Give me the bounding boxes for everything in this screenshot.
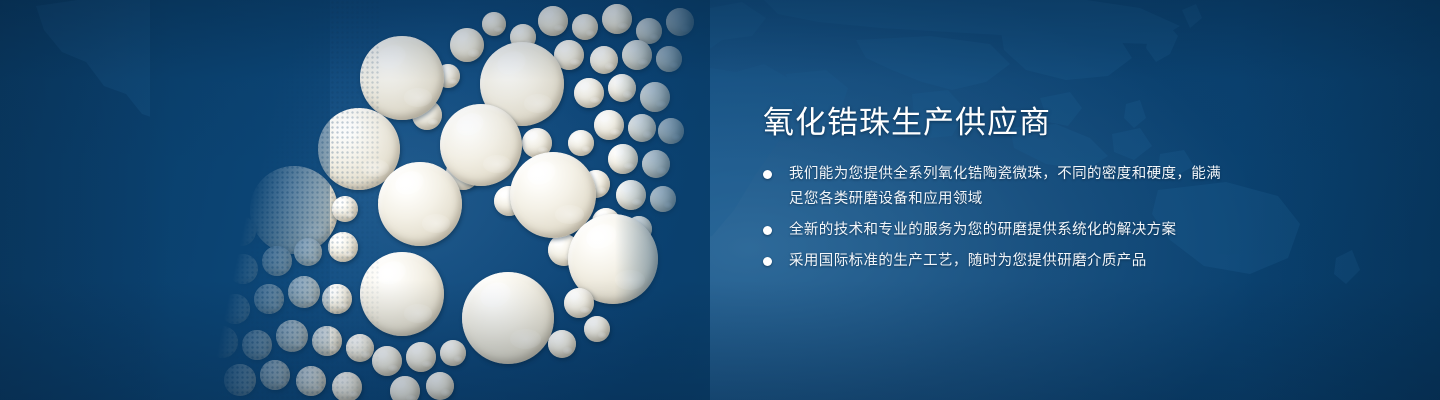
banner-headline: 氧化锆珠生产供应商 xyxy=(763,104,1233,142)
banner-bullet-list: 我们能为您提供全系列氧化锆陶瓷微珠，不同的密度和硬度，能满足您各类研磨设备和应用… xyxy=(763,162,1233,274)
bullet-dot-icon xyxy=(763,257,772,266)
product-image-zirconia-beads xyxy=(150,0,710,400)
banner-text-block: 氧化锆珠生产供应商 我们能为您提供全系列氧化锆陶瓷微珠，不同的密度和硬度，能满足… xyxy=(763,104,1233,274)
bead-cluster xyxy=(150,0,710,400)
bullet-item-2: 全新的技术和专业的服务为您的研磨提供系统化的解决方案 xyxy=(763,218,1233,243)
bullet-item-1: 我们能为您提供全系列氧化锆陶瓷微珠，不同的密度和硬度，能满足您各类研磨设备和应用… xyxy=(763,162,1233,212)
bullet-text: 采用国际标准的生产工艺，随时为您提供研磨介质产品 xyxy=(789,249,1233,274)
bullet-dot-icon xyxy=(763,170,772,179)
bullet-text: 我们能为您提供全系列氧化锆陶瓷微珠，不同的密度和硬度，能满足您各类研磨设备和应用… xyxy=(789,162,1233,212)
hero-banner: 氧化锆珠生产供应商 我们能为您提供全系列氧化锆陶瓷微珠，不同的密度和硬度，能满足… xyxy=(0,0,1440,400)
bullet-dot-icon xyxy=(763,226,772,235)
bullet-item-3: 采用国际标准的生产工艺，随时为您提供研磨介质产品 xyxy=(763,249,1233,274)
bullet-text: 全新的技术和专业的服务为您的研磨提供系统化的解决方案 xyxy=(789,218,1233,243)
